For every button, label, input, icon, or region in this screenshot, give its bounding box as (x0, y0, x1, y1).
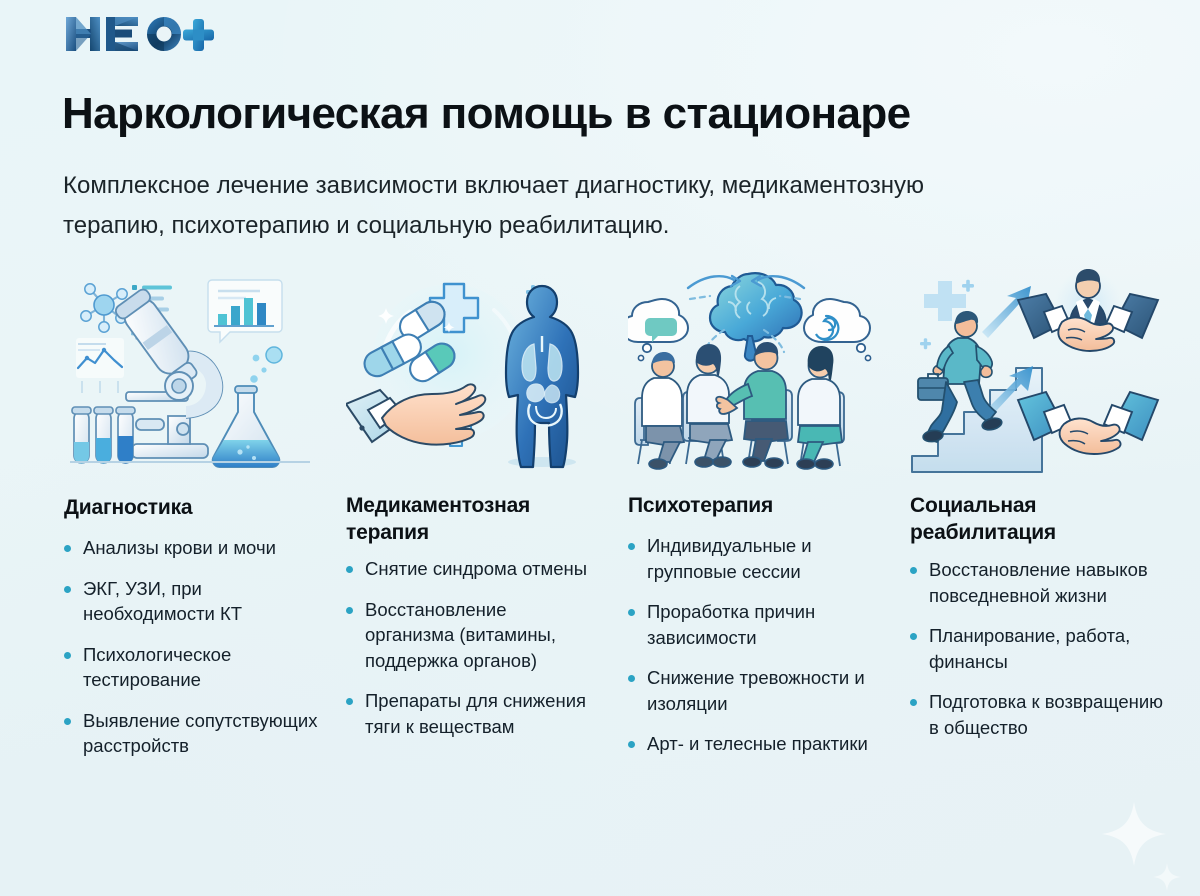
list-item: Снятие синдрома отмены (346, 556, 600, 582)
list-item: Индивидуальные и групповые сессии (628, 533, 882, 584)
list-item: Арт- и телесные практики (628, 731, 882, 757)
list-item: Планирование, работа, финансы (910, 623, 1164, 674)
list-item: Психологическое тестирование (64, 642, 318, 693)
page-subtitle: Комплексное лечение зависимости включает… (63, 166, 963, 246)
column-psychotherapy: Психотерапия Индивидуальные и групповые … (614, 266, 896, 774)
group-therapy-illustration (628, 266, 882, 474)
column-medication: Медикаментозная терапия Снятие синдрома … (332, 266, 614, 774)
column-title-social-rehab: Социальная реабилитация (910, 492, 1164, 546)
infographic-page: Наркологическая помощь в стационаре Комп… (0, 0, 1200, 896)
bullet-list-diagnostics: Анализы крови и мочи ЭКГ, УЗИ, при необх… (64, 535, 318, 759)
list-item: Подготовка к возвращению в общество (910, 689, 1164, 740)
sparkle-decoration-small (1152, 862, 1182, 892)
bullet-list-psychotherapy: Индивидуальные и групповые сессии Прораб… (628, 533, 882, 757)
content-columns: Диагностика Анализы крови и мочи ЭКГ, УЗ… (50, 266, 1160, 774)
list-item: Восстановление организма (витамины, подд… (346, 597, 600, 674)
social-rehabilitation-illustration (910, 266, 1164, 474)
page-title: Наркологическая помощь в стационаре (62, 87, 1152, 141)
list-item: Препараты для снижения тяги к веществам (346, 688, 600, 739)
list-item: Выявление сопутствующих расстройств (64, 708, 318, 759)
neo-plus-logo[interactable] (64, 12, 214, 56)
list-item: Анализы крови и мочи (64, 535, 318, 561)
list-item: Восстановление навыков повседневной жизн… (910, 557, 1164, 608)
medication-therapy-illustration (346, 266, 600, 474)
laboratory-diagnostics-illustration (64, 266, 318, 474)
column-title-psychotherapy: Психотерапия (628, 492, 882, 519)
bullet-list-social-rehab: Восстановление навыков повседневной жизн… (910, 557, 1164, 740)
bullet-list-medication: Снятие синдрома отмены Восстановление ор… (346, 556, 600, 739)
column-title-medication: Медикаментозная терапия (346, 492, 600, 546)
sparkle-decoration-large (1100, 800, 1168, 868)
column-title-diagnostics: Диагностика (64, 494, 318, 521)
list-item: ЭКГ, УЗИ, при необходимости КТ (64, 576, 318, 627)
list-item: Снижение тревожности и изоляции (628, 665, 882, 716)
column-social-rehab: Социальная реабилитация Восстановление н… (896, 266, 1178, 774)
column-diagnostics: Диагностика Анализы крови и мочи ЭКГ, УЗ… (50, 266, 332, 774)
list-item: Проработка причин зависимости (628, 599, 882, 650)
